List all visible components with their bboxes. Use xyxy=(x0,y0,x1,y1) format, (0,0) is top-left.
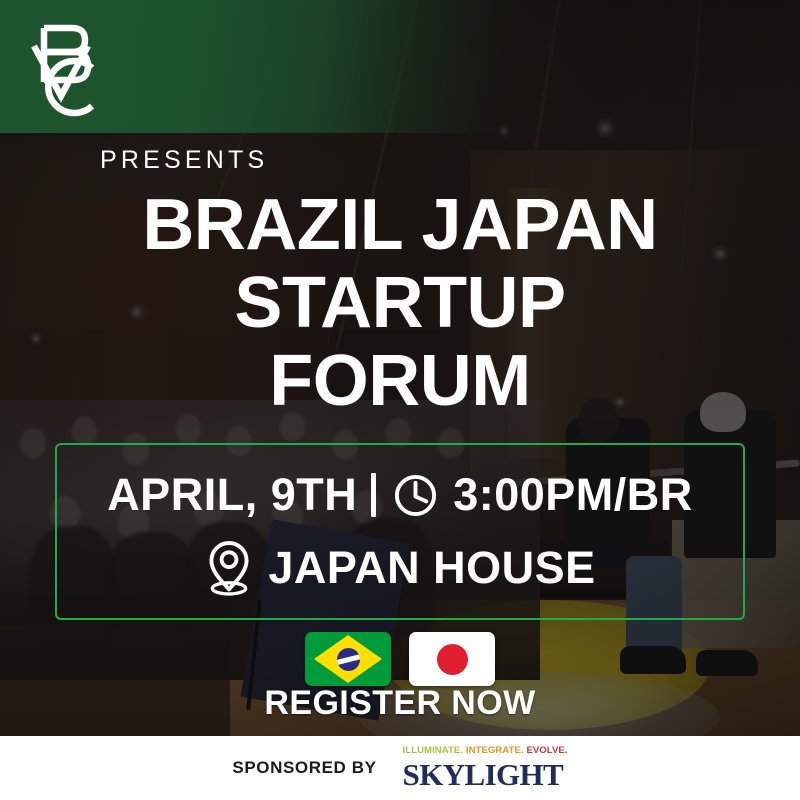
title-line-2: STARTUP xyxy=(0,264,800,342)
skylight-wordmark: SKYLIGHT xyxy=(403,759,564,790)
brazil-flag xyxy=(305,632,391,686)
country-flags xyxy=(0,632,800,686)
event-venue: JAPAN HOUSE xyxy=(268,540,595,596)
brand-header-band xyxy=(0,0,800,133)
title-line-3: FORUM xyxy=(0,342,800,420)
sponsored-by-label: SPONSORED BY xyxy=(232,758,376,778)
event-venue-row: JAPAN HOUSE xyxy=(57,539,743,597)
event-date-time-row: APRIL, 9TH 3:00PM/BR xyxy=(57,467,743,523)
title-line-1: BRAZIL JAPAN xyxy=(0,186,800,264)
tagline-part-evolve: EVOLVE. xyxy=(526,745,567,756)
japan-flag-sun xyxy=(437,644,468,675)
brazil-flag-band xyxy=(337,653,360,666)
map-pin-icon xyxy=(204,539,254,597)
tagline-part-illuminate: ILLUMINATE. xyxy=(403,745,464,756)
separator-pipe xyxy=(371,473,376,517)
page-title: BRAZIL JAPAN STARTUP FORUM xyxy=(0,186,800,420)
register-now-button[interactable]: REGISTER NOW xyxy=(0,684,800,723)
japan-flag xyxy=(409,632,495,686)
presents-label: PRESENTS xyxy=(100,148,268,173)
event-poster: PRESENTS BRAZIL JAPAN STARTUP FORUM APRI… xyxy=(0,0,800,800)
bvc-logo[interactable] xyxy=(28,16,108,120)
event-date: APRIL, 9TH xyxy=(107,467,357,523)
event-time: 3:00PM/BR xyxy=(453,467,693,523)
brazil-flag-globe xyxy=(337,648,360,671)
event-details-box: APRIL, 9TH 3:00PM/BR JAPAN HOUSE xyxy=(55,443,745,620)
skylight-logo[interactable]: ILLUMINATE. INTEGRATE. EVOLVE. SKYLIGHT xyxy=(403,746,568,790)
clock-icon xyxy=(392,472,439,519)
sponsor-footer: SPONSORED BY ILLUMINATE. INTEGRATE. EVOL… xyxy=(0,736,800,800)
skylight-tagline: ILLUMINATE. INTEGRATE. EVOLVE. xyxy=(403,746,568,756)
tagline-part-integrate: INTEGRATE. xyxy=(466,745,524,756)
